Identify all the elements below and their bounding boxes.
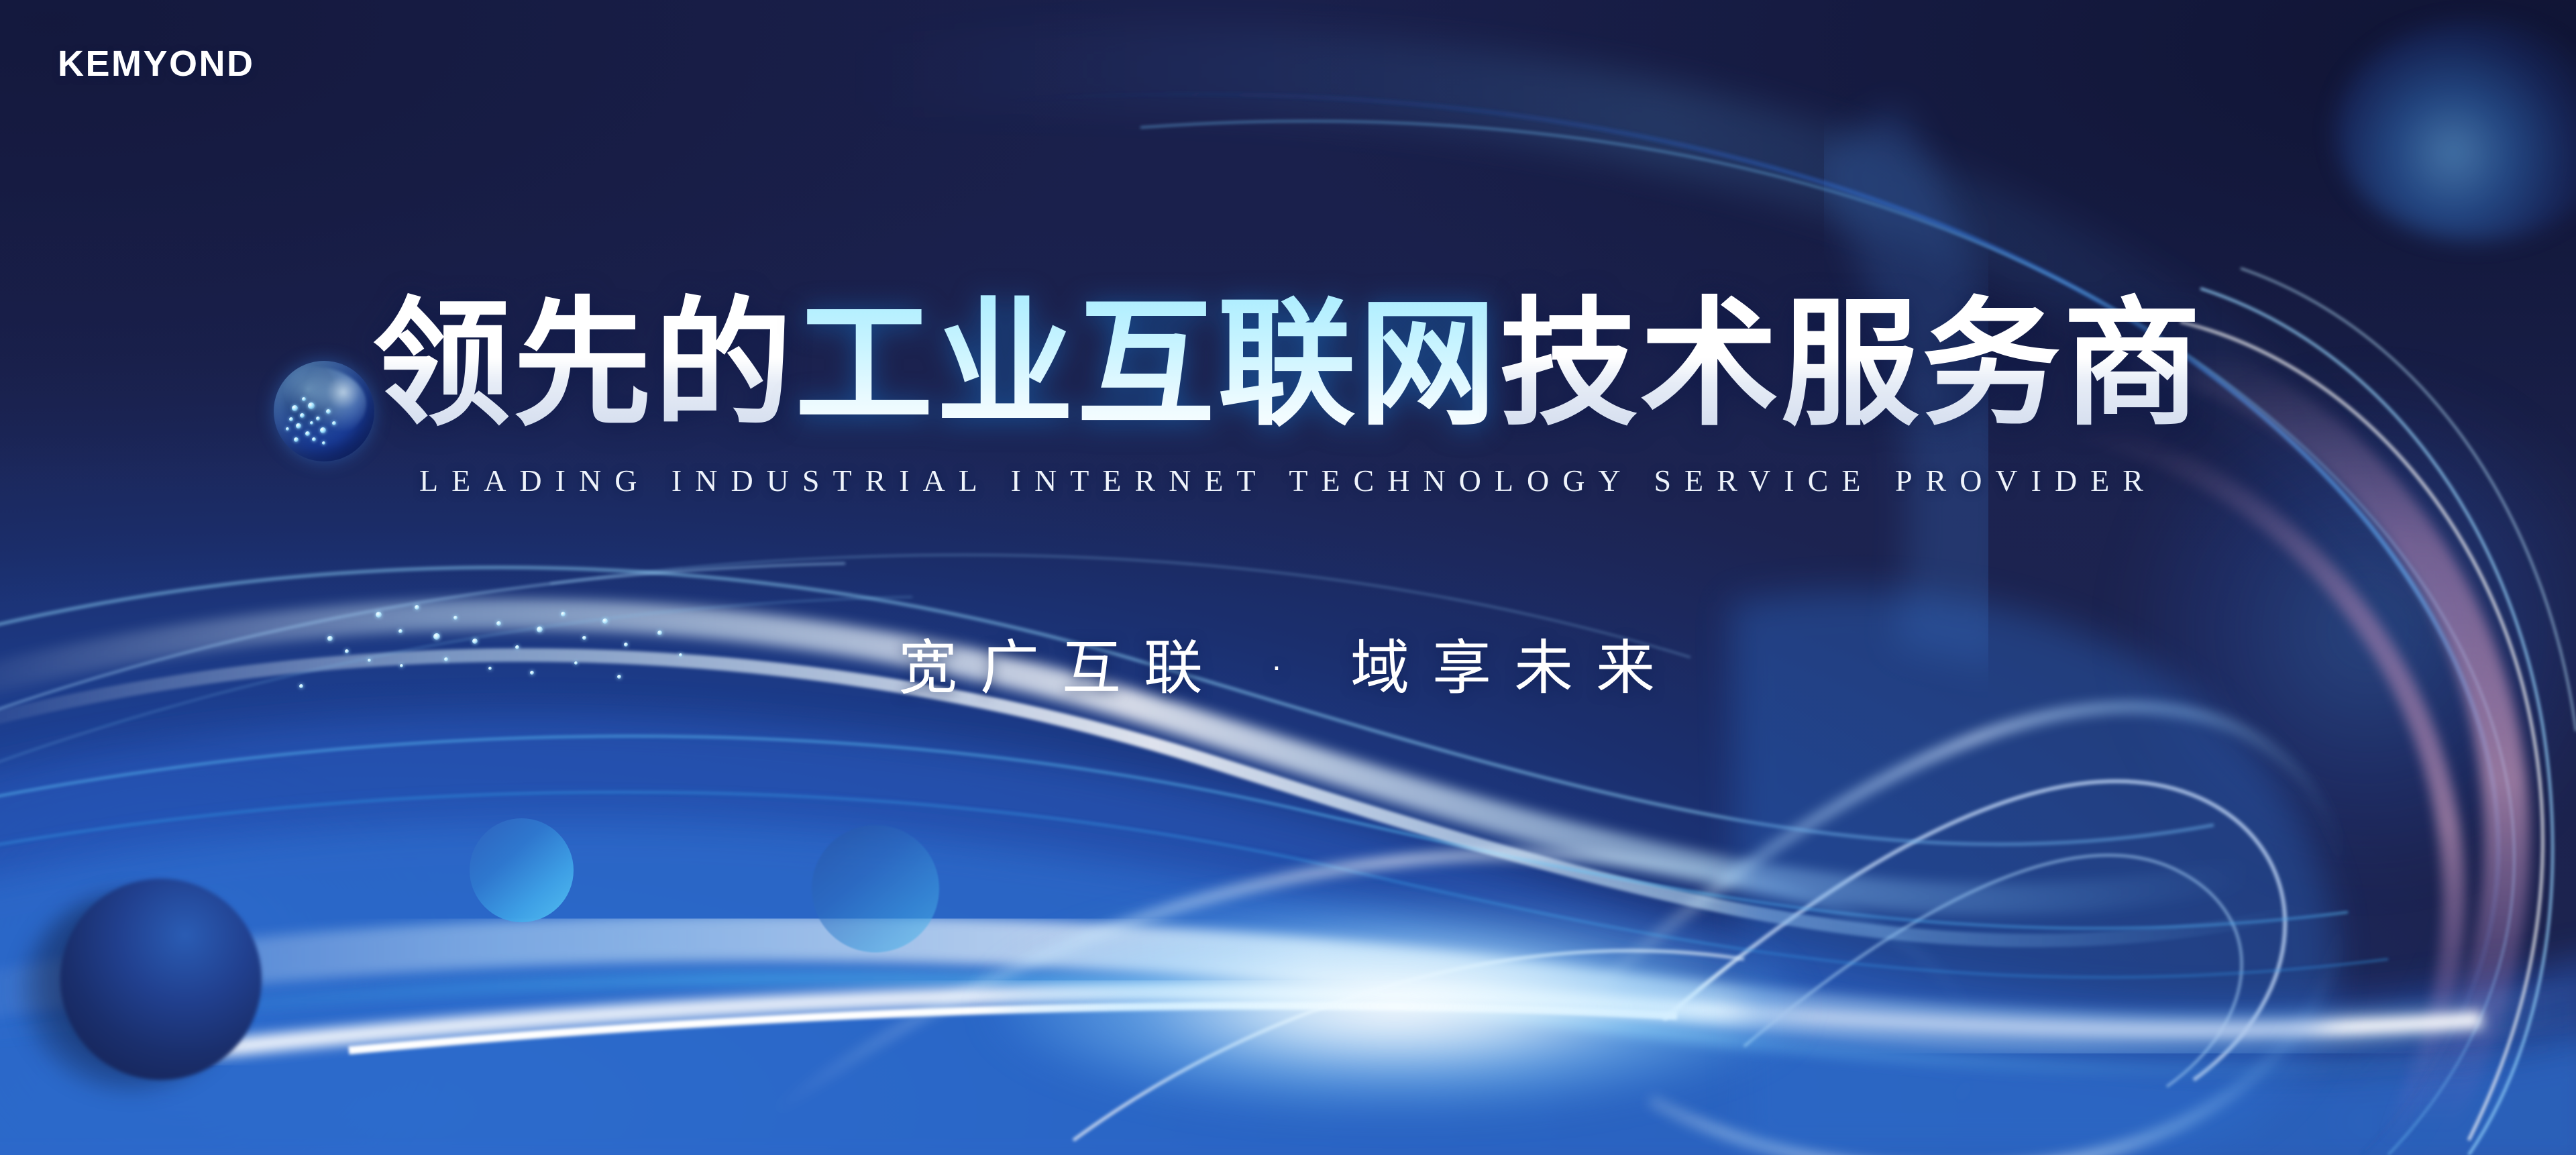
brand-logo: KEMYOND: [58, 43, 255, 85]
headline-segment-service-provider: 技术服务商: [1499, 284, 2204, 445]
headline-segment-industrial-internet: 工业互联网: [795, 284, 1499, 445]
headline-segment-leading: 领先的: [372, 284, 795, 445]
marketing-banner: KEMYOND 领先的工业互联网技术服务商 LEADING INDUSTRIAL…: [0, 0, 2576, 1155]
page-title: 领先的工业互联网技术服务商: [0, 294, 2576, 435]
page-tagline: 宽广互联 · 域享未来: [0, 620, 2576, 706]
page-subtitle: LEADING INDUSTRIAL INTERNET TECHNOLOGY S…: [0, 463, 2576, 498]
banner-content: KEMYOND 领先的工业互联网技术服务商 LEADING INDUSTRIAL…: [0, 0, 2576, 1155]
